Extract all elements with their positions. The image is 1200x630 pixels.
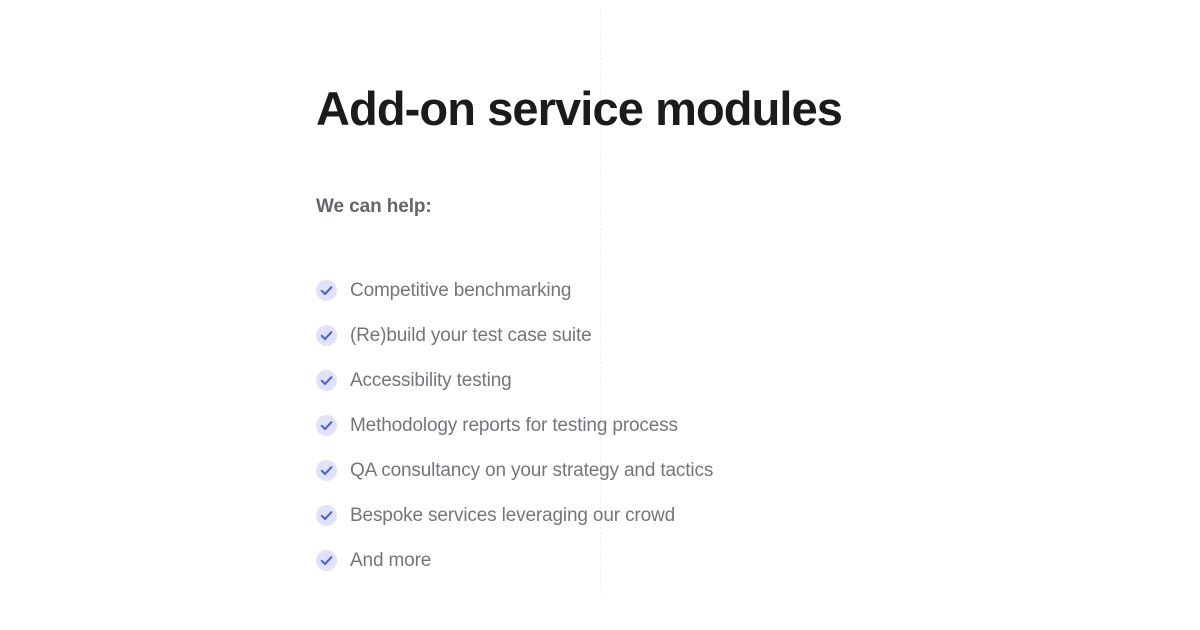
list-item: Methodology reports for testing process <box>316 413 713 437</box>
list-item: QA consultancy on your strategy and tact… <box>316 458 713 482</box>
check-circle-icon <box>316 460 337 481</box>
check-circle-icon <box>316 325 337 346</box>
list-item-label: QA consultancy on your strategy and tact… <box>350 461 713 480</box>
list-item: Accessibility testing <box>316 368 713 392</box>
list-item-label: Competitive benchmarking <box>350 281 571 300</box>
list-item: Bespoke services leveraging our crowd <box>316 503 713 527</box>
list-item: (Re)build your test case suite <box>316 323 713 347</box>
list-item: Competitive benchmarking <box>316 278 713 302</box>
list-item-label: Methodology reports for testing process <box>350 416 678 435</box>
list-item-label: Accessibility testing <box>350 371 512 390</box>
subtitle-we-can-help: We can help: <box>316 195 432 220</box>
page-title: Add-on service modules <box>316 84 842 135</box>
benefits-list: Competitive benchmarking(Re)build your t… <box>316 278 713 572</box>
slide-canvas: Add-on service modules We can help: Comp… <box>0 0 1200 630</box>
content-column: Add-on service modules We can help: Comp… <box>316 0 1136 630</box>
check-circle-icon <box>316 505 337 526</box>
list-item-label: (Re)build your test case suite <box>350 326 592 345</box>
check-circle-icon <box>316 415 337 436</box>
check-circle-icon <box>316 370 337 391</box>
check-circle-icon <box>316 280 337 301</box>
check-circle-icon <box>316 550 337 571</box>
list-item-label: And more <box>350 551 431 570</box>
list-item: And more <box>316 548 713 572</box>
list-item-label: Bespoke services leveraging our crowd <box>350 506 675 525</box>
